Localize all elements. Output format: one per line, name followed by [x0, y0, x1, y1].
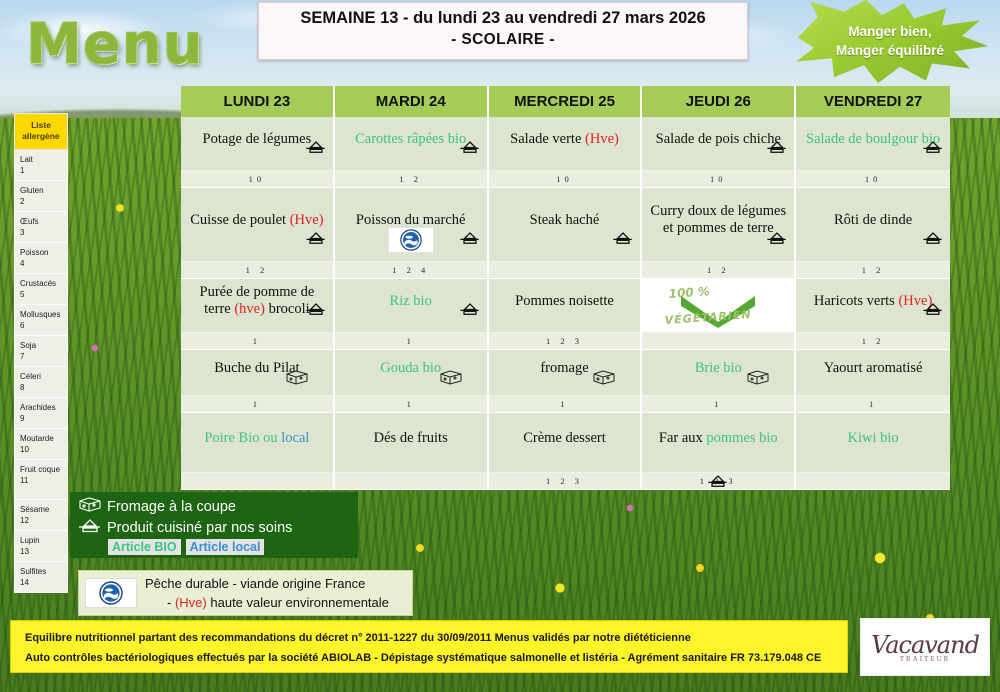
dish-label: Yaourt aromatisé [824, 360, 923, 376]
cooked-in-house-icon [612, 230, 634, 247]
page-title: Menu [26, 14, 226, 76]
allergen-numbers-entree-5: 10 [796, 171, 950, 188]
legend-row-tags: Article BIO Article local [108, 538, 352, 556]
allergen-numbers-accompagnement-5: 1 2 [796, 333, 950, 350]
svg-text:100 %: 100 % [669, 284, 711, 301]
allergen-numbers-accompagnement-2: 1 [335, 333, 489, 350]
menu-cell-entree-4: Salade de pois chiche [642, 117, 796, 171]
legend-row-cooked: Produit cuisiné par nos soins [78, 517, 352, 538]
allergen-item-number: 13 [20, 546, 63, 557]
allergen-item-name: Moutarde [20, 433, 63, 444]
menu-cell-entree-2: Carottes râpées bio [335, 117, 489, 171]
menu-cell-accompagnement-1: Purée de pomme de terre (hve) brocoli [181, 279, 335, 333]
dish-label: Salade de boulgour bio [806, 131, 940, 147]
eat-well-badge: Manger bien, Manger équilibré [790, 0, 990, 84]
badge-line1: Manger bien, [790, 22, 990, 41]
dish-label: Cuisse de poulet (Hve) [190, 212, 323, 228]
allergen-item-name: Lait [20, 154, 63, 165]
menu-cell-fromage-3: fromage [489, 350, 643, 396]
allergen-numbers-dessert-4: 1 2 3 [642, 473, 796, 490]
allergen-numbers-plat-4: 1 2 [642, 262, 796, 279]
menu-row-accompagnement: Purée de pomme de terre (hve) brocoliRiz… [181, 279, 950, 333]
allergen-items: Lait1Gluten2Œufs3Poisson4Crustacés5Mollu… [14, 150, 68, 593]
day-header-row: LUNDI 23MARDI 24MERCREDI 25JEUDI 26VENDR… [181, 86, 950, 117]
menu-body: Potage de légumesCarottes râpées bioSala… [181, 117, 950, 490]
dish-label: Crème dessert [523, 430, 606, 446]
menu-cell-accompagnement-4: 100 %VÉGÉTARIEN [642, 279, 796, 333]
cheese-icon [746, 369, 770, 387]
vegetarian-logo-icon: 100 %VÉGÉTARIEN [642, 279, 794, 332]
menu-cell-accompagnement-3: Pommes noisette [489, 279, 643, 333]
cheese-icon [439, 369, 463, 387]
allergen-numbers-accompagnement-4 [642, 333, 796, 350]
menu-cell-plat-2: Poisson du marché [335, 188, 489, 262]
menu-cell-entree-5: Salade de boulgour bio [796, 117, 950, 171]
allergen-item: Moutarde10 [14, 429, 68, 460]
sustainable-rest: haute valeur environnementale [210, 595, 389, 610]
legend-tag-bio-wrap: Article BIO [108, 539, 181, 555]
menu-cell-plat-1: Cuisse de poulet (Hve) [181, 188, 335, 262]
menu-row-fromage: Buche du PilatGouda biofromageBrie bioYa… [181, 350, 950, 396]
allergen-row-accompagnement: 111 2 31 2 [181, 333, 950, 350]
allergen-item-name: Crustacés [20, 278, 63, 289]
allergen-item-name: Mollusques [20, 309, 63, 320]
legend-tag-local-wrap: Article local [186, 539, 265, 555]
sustainable-line1: Pêche durable - viande origine France [145, 574, 389, 593]
menu-cell-entree-3: Salade verte (Hve) [489, 117, 643, 171]
dish-label: Potage de légumes [203, 131, 312, 147]
allergen-numbers-dessert-1 [181, 473, 335, 490]
allergen-row-fromage: 11111 [181, 396, 950, 413]
sustainable-text: Pêche durable - viande origine France - … [145, 574, 389, 612]
allergen-item: Arachides9 [14, 398, 68, 429]
menu-row-dessert: Poire Bio ou localDés de fruitsCrème des… [181, 413, 950, 473]
sustainable-dash: - [167, 595, 171, 610]
menu-cell-fromage-5: Yaourt aromatisé [796, 350, 950, 396]
allergen-row-entree: 101 2101010 [181, 171, 950, 188]
menu-row-plat: Cuisse de poulet (Hve)Poisson du marchéS… [181, 188, 950, 262]
dish-label: Salade verte (Hve) [510, 131, 619, 147]
allergen-numbers-plat-2: 1 2 4 [335, 262, 489, 279]
allergen-item-number: 10 [20, 444, 63, 455]
eat-well-badge-text: Manger bien, Manger équilibré [790, 22, 990, 60]
dish-label: Purée de pomme de terre (hve) brocoli [200, 284, 315, 317]
allergen-item-name: Soja [20, 340, 63, 351]
menu-cell-dessert-4: Far aux pommes bio [642, 413, 796, 473]
allergen-item: Gluten2 [14, 181, 68, 212]
allergen-item-number: 4 [20, 258, 63, 269]
menu-row-entree: Potage de légumesCarottes râpées bioSala… [181, 117, 950, 171]
cooked-in-house-icon [305, 139, 327, 156]
menu-cell-plat-5: Rôti de dinde [796, 188, 950, 262]
menu-cell-dessert-5: Kiwi bio [796, 413, 950, 473]
allergen-item: Crustacés5 [14, 274, 68, 305]
cooked-in-house-icon [459, 139, 481, 156]
menu-cell-accompagnement-2: Riz bio [335, 279, 489, 333]
allergen-numbers-fromage-1: 1 [181, 396, 335, 413]
week-title-box: SEMAINE 13 - du lundi 23 au vendredi 27 … [258, 2, 748, 60]
allergen-item: Poisson4 [14, 243, 68, 274]
menu-cell-dessert-2: Dés de fruits [335, 413, 489, 473]
allergen-numbers-accompagnement-3: 1 2 3 [489, 333, 643, 350]
allergen-item: Lupin13 [14, 531, 68, 562]
menu-cell-plat-3: Steak haché [489, 188, 643, 262]
allergen-item-number: 12 [20, 515, 63, 526]
allergen-numbers-plat-3 [489, 262, 643, 279]
allergen-item-name: Arachides [20, 402, 63, 413]
allergen-item-name: Sulfites [20, 566, 63, 577]
menu-cell-fromage-1: Buche du Pilat [181, 350, 335, 396]
cooked-in-house-icon [766, 139, 788, 156]
allergen-item-number: 9 [20, 413, 63, 424]
menu-cell-accompagnement-5: Haricots verts (Hve) [796, 279, 950, 333]
allergen-numbers-plat-1: 1 2 [181, 262, 335, 279]
sustainable-hve: (Hve) [175, 595, 207, 610]
brand-sub: TRAITEUR [900, 655, 951, 663]
allergen-item: Soja7 [14, 336, 68, 367]
legend-tag-bio: Article BIO [112, 540, 177, 554]
allergen-item-number: 14 [20, 577, 63, 588]
msc-logo-icon [85, 578, 137, 608]
footer-info-bar: Equilibre nutritionnel partant des recom… [10, 620, 848, 673]
dish-label: Kiwi bio [848, 430, 899, 446]
day-header-4: JEUDI 26 [642, 86, 796, 117]
allergen-numbers-entree-3: 10 [489, 171, 643, 188]
sustainable-fishing-box: Pêche durable - viande origine France - … [78, 570, 413, 616]
dish-label: Pommes noisette [515, 293, 614, 309]
cheese-icon [285, 369, 309, 387]
allergen-item-number: 1 [20, 165, 63, 176]
sustainable-line2: - (Hve) haute valeur environnementale [145, 593, 389, 612]
allergen-item: Fruit coque11 [14, 460, 68, 500]
dish-label: Gouda bio [380, 360, 441, 376]
allergen-numbers-dessert-2 [335, 473, 489, 490]
allergen-item-number: 2 [20, 196, 63, 207]
menu-table: LUNDI 23MARDI 24MERCREDI 25JEUDI 26VENDR… [181, 86, 950, 490]
allergen-item-name: Céleri [20, 371, 63, 382]
allergen-item-number: 11 [20, 475, 63, 486]
day-header-3: MERCREDI 25 [489, 86, 643, 117]
dish-label: Poire Bio ou local [204, 430, 309, 446]
dish-label: Salade de pois chiche [656, 131, 781, 147]
dish-label: Carottes râpées bio [355, 131, 466, 147]
allergen-item-name: Poisson [20, 247, 63, 258]
allergen-numbers-entree-2: 1 2 [335, 171, 489, 188]
legend-row-cheese: Fromage à la coupe [78, 496, 352, 517]
menu-cell-fromage-2: Gouda bio [335, 350, 489, 396]
cheese-icon [78, 496, 102, 518]
allergen-row-plat: 1 21 2 41 21 2 [181, 262, 950, 279]
menu-cell-dessert-1: Poire Bio ou local [181, 413, 335, 473]
allergen-item-name: Gluten [20, 185, 63, 196]
dish-label: Steak haché [530, 212, 600, 228]
dish-label: fromage [540, 360, 588, 376]
cooked-in-house-icon [766, 230, 788, 247]
allergen-numbers-fromage-2: 1 [335, 396, 489, 413]
allergen-item-number: 5 [20, 289, 63, 300]
cooked-in-house-icon [305, 301, 327, 318]
cheese-icon [592, 369, 616, 387]
footer-line1: Equilibre nutritionnel partant des recom… [25, 628, 837, 648]
allergen-numbers-entree-4: 10 [642, 171, 796, 188]
allergen-item-name: Fruit coque [20, 464, 63, 475]
dish-label: Riz bio [390, 293, 432, 309]
menu-cell-entree-1: Potage de légumes [181, 117, 335, 171]
dish-label: Haricots verts (Hve) [814, 293, 932, 309]
menu-cell-fromage-4: Brie bio [642, 350, 796, 396]
allergen-item-number: 7 [20, 351, 63, 362]
footer-line2: Auto contrôles bactériologiques effectué… [25, 648, 837, 668]
day-header-2: MARDI 24 [335, 86, 489, 117]
day-header-1: LUNDI 23 [181, 86, 335, 117]
allergen-numbers-fromage-4: 1 [642, 396, 796, 413]
legend-box: Fromage à la coupe Produit cuisiné par n… [70, 492, 358, 558]
allergen-item-number: 3 [20, 227, 63, 238]
allergen-item-number: 8 [20, 382, 63, 393]
allergen-item-name: Lupin [20, 535, 63, 546]
cooked-in-house-icon [922, 139, 944, 156]
cooked-in-house-icon [305, 230, 327, 247]
week-title-line2: - SCOLAIRE - [259, 31, 747, 49]
cooked-in-house-icon [78, 517, 102, 539]
allergen-item-number: 6 [20, 320, 63, 331]
badge-line2: Manger équilibré [790, 41, 990, 60]
svg-text:VÉGÉTARIEN: VÉGÉTARIEN [665, 307, 753, 326]
allergen-numbers-fromage-5: 1 [796, 396, 950, 413]
allergen-numbers-entree-1: 10 [181, 171, 335, 188]
cooked-in-house-icon [922, 301, 944, 318]
allergen-item-name: Sésame [20, 504, 63, 515]
menu-cell-dessert-3: Crème dessert [489, 413, 643, 473]
week-title-line1: SEMAINE 13 - du lundi 23 au vendredi 27 … [259, 9, 747, 28]
allergen-item: Sulfites14 [14, 562, 68, 593]
msc-logo-icon [388, 227, 434, 253]
allergen-item: Sésame12 [14, 500, 68, 531]
legend-cheese-label: Fromage à la coupe [107, 499, 236, 515]
legend-tag-local: Article local [190, 540, 261, 554]
allergen-numbers-plat-5: 1 2 [796, 262, 950, 279]
cooked-in-house-icon [707, 473, 729, 490]
day-header-5: VENDREDI 27 [796, 86, 950, 117]
allergen-header-line2: allergène [17, 131, 65, 142]
legend-cooked-label: Produit cuisiné par nos soins [107, 520, 292, 536]
allergen-numbers-dessert-3: 1 2 3 [489, 473, 643, 490]
allergen-item-name: Œufs [20, 216, 63, 227]
dish-label: Rôti de dinde [834, 212, 912, 228]
dish-label: Poisson du marché [356, 212, 466, 228]
dish-label: Far aux pommes bio [659, 430, 778, 446]
allergen-item: Mollusques6 [14, 305, 68, 336]
allergen-item: Lait1 [14, 150, 68, 181]
allergen-list: Liste allergène Lait1Gluten2Œufs3Poisson… [14, 113, 68, 593]
cooked-in-house-icon [459, 301, 481, 318]
allergen-row-dessert: 1 2 31 2 3 [181, 473, 950, 490]
allergen-item: Céleri8 [14, 367, 68, 398]
menu-cell-plat-4: Curry doux de légumes et pommes de terre [642, 188, 796, 262]
dish-label: Brie bio [695, 360, 742, 376]
allergen-numbers-accompagnement-1: 1 [181, 333, 335, 350]
allergen-list-header: Liste allergène [14, 113, 68, 150]
allergen-numbers-fromage-3: 1 [489, 396, 643, 413]
brand-logo: Vacavand TRAITEUR [860, 618, 990, 676]
allergen-header-line1: Liste [17, 120, 65, 131]
allergen-item: Œufs3 [14, 212, 68, 243]
cooked-in-house-icon [922, 230, 944, 247]
allergen-numbers-dessert-5 [796, 473, 950, 490]
dish-label: Dés de fruits [374, 430, 448, 446]
cooked-in-house-icon [459, 230, 481, 247]
